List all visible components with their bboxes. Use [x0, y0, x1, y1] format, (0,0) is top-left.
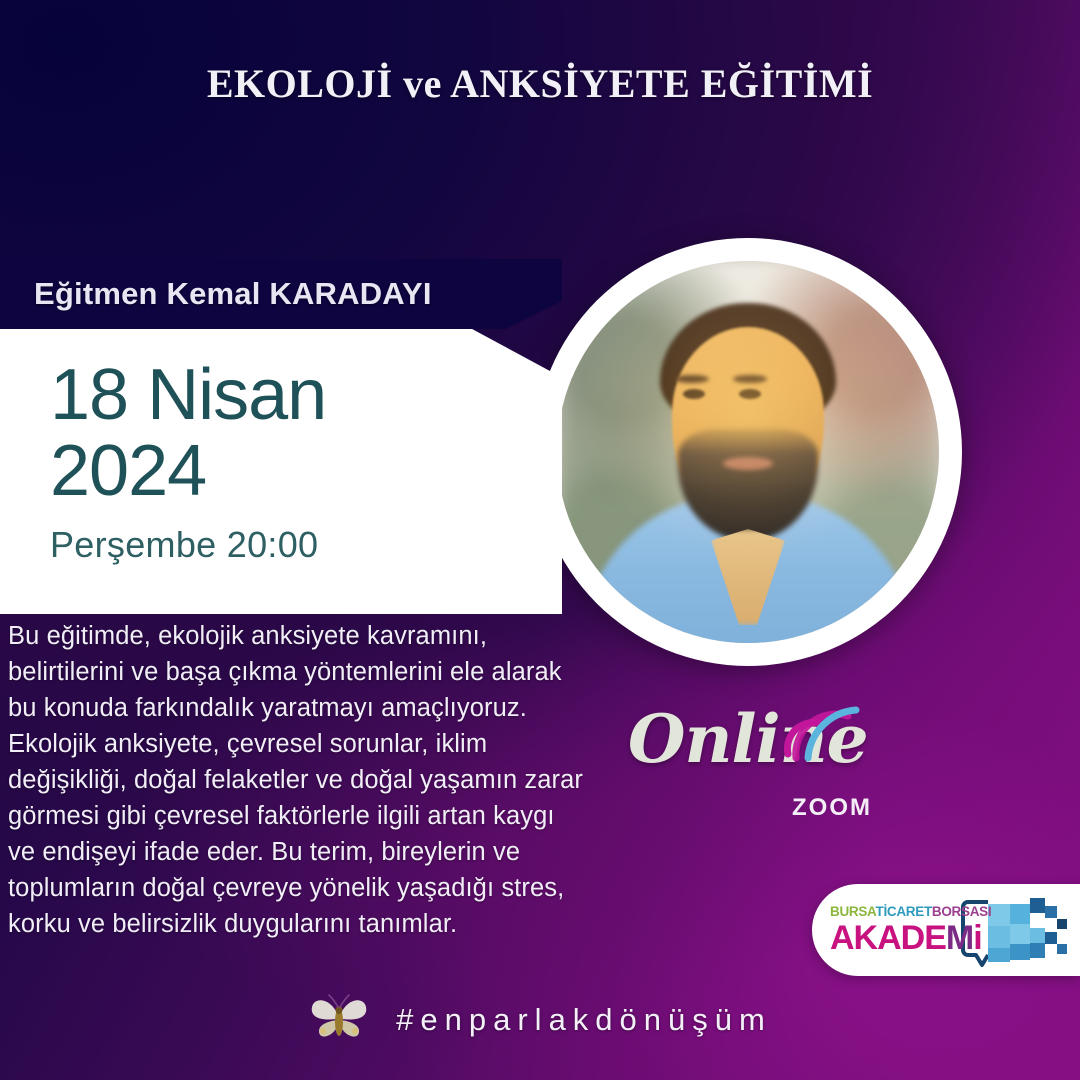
event-poster: EKOLOJİ ve ANKSİYETE EĞİTİMİ Eğitmen Kem… [0, 0, 1080, 1080]
brand-i: i [973, 919, 981, 957]
date-year: 2024 [50, 431, 562, 512]
brand-ticaret: TİCARET [876, 904, 932, 919]
akademi-wordmark: AKADEMi [830, 921, 991, 955]
brand-akade: AKADE [830, 919, 946, 957]
brand-borsasi: BORSASI [932, 904, 991, 919]
instructor-band: Eğitmen Kemal KARADAYI [0, 259, 562, 329]
brand-m: M [946, 919, 973, 957]
page-title: EKOLOJİ ve ANKSİYETE EĞİTİMİ [0, 60, 1080, 107]
zoom-label: ZOOM [792, 794, 872, 822]
butterfly-icon [308, 991, 370, 1048]
photo-warm-light [557, 261, 939, 643]
speaker-photo-image [557, 261, 939, 643]
akademi-logo-text: BURSATİCARETBORSASI AKADEMi [830, 905, 991, 955]
brand-bursa: BURSA [830, 904, 876, 919]
wifi-arcs-icon [778, 700, 860, 767]
event-description: Bu eğitimde, ekolojik anksiyete kavramın… [8, 618, 588, 942]
hashtag-row: #enparlakdönüşüm [0, 991, 1080, 1048]
date-panel: 18 Nisan 2024 Perşembe 20:00 [0, 329, 562, 614]
online-zoom-logo: Online ZOOM [628, 706, 878, 834]
speaker-photo [534, 238, 962, 666]
date-day-month: 18 Nisan [50, 359, 562, 431]
date-weekday-time: Perşembe 20:00 [50, 524, 562, 566]
instructor-name: Eğitmen Kemal KARADAYI [34, 276, 432, 312]
akademi-logo: BURSATİCARETBORSASI AKADEMi [812, 884, 1080, 976]
hashtag-label: #enparlakdönüşüm [396, 1002, 772, 1038]
akademi-logo-toplines: BURSATİCARETBORSASI [830, 905, 991, 919]
